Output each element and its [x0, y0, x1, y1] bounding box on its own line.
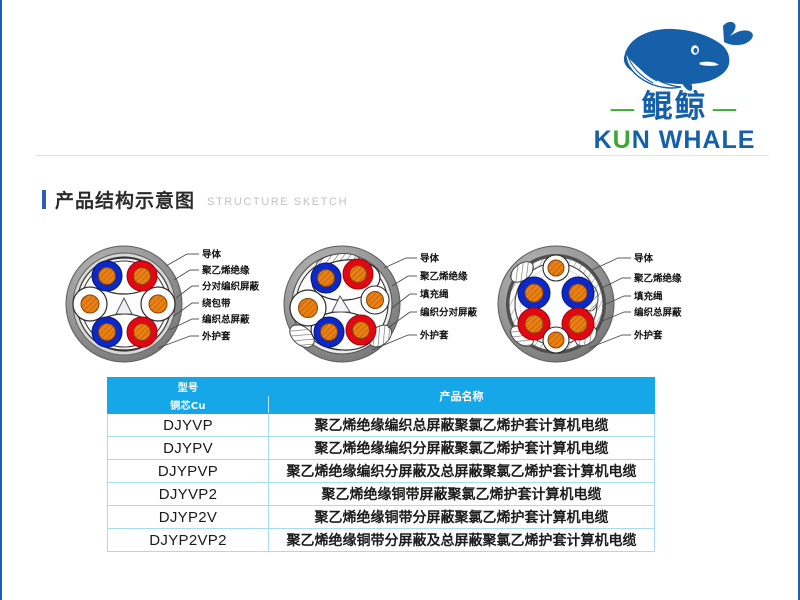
table-header: 型号 产品名称 铜芯Cu [108, 378, 655, 414]
diagram-2-label-0: 导体 [420, 253, 440, 265]
header-model-line2: 铜芯Cu [108, 396, 269, 414]
diagram-1-label-3: 绕包带 [202, 298, 231, 310]
title-accent-bar [42, 190, 46, 209]
cable-diagram-2: 导体 聚乙烯绝缘 填充绳 编织分对屏蔽 外护套 [280, 236, 495, 376]
cell-product-name: 聚乙烯绝缘铜带屏蔽聚氯乙烯护套计算机电缆 [269, 483, 655, 506]
brand-logo: —鲲鲸— KUN WHALE [577, 20, 772, 140]
brand-en-k: K [594, 126, 613, 154]
cell-model: DJYP2V [108, 506, 269, 529]
header-divider [35, 155, 769, 156]
dash-right-icon: — [708, 94, 744, 124]
table-row: DJYVP 聚乙烯绝缘编织总屏蔽聚氯乙烯护套计算机电缆 [108, 414, 655, 437]
cell-model: DJYVP [108, 414, 269, 437]
diagram-1-label-2: 分对编织屏蔽 [202, 281, 260, 293]
diagram-3-label-2: 填充绳 [634, 291, 663, 303]
cell-product-name: 聚乙烯绝缘编织分屏蔽聚氯乙烯护套计算机电缆 [269, 437, 655, 460]
cell-product-name: 聚乙烯绝缘编织总屏蔽聚氯乙烯护套计算机电缆 [269, 414, 655, 437]
cell-model: DJYP2VP2 [108, 529, 269, 552]
table-row: DJYP2VP2 聚乙烯绝缘铜带分屏蔽及总屏蔽聚氯乙烯护套计算机电缆 [108, 529, 655, 552]
table-row: DJYP2V 聚乙烯绝缘铜带分屏蔽聚氯乙烯护套计算机电缆 [108, 506, 655, 529]
dash-left-icon: — [606, 94, 642, 124]
diagram-3-label-1: 聚乙烯绝缘 [633, 273, 682, 285]
diagram-1-label-4: 编织总屏蔽 [202, 314, 250, 326]
diagram-2-label-3: 编织分对屏蔽 [420, 307, 478, 319]
whale-icon [595, 20, 760, 92]
table-row: DJYPV 聚乙烯绝缘编织分屏蔽聚氯乙烯护套计算机电缆 [108, 437, 655, 460]
table-header-row-1: 型号 产品名称 [108, 378, 655, 396]
section-title-cn: 产品结构示意图 [55, 186, 195, 213]
product-page: —鲲鲸— KUN WHALE 产品结构示意图 STRUCTURE SKETCH [0, 0, 800, 600]
cable-diagram-1: 导体 聚乙烯绝缘 分对编织屏蔽 绕包带 编织总屏蔽 外护套 [62, 236, 277, 376]
brand-cn-text: 鲲鲸 [642, 89, 708, 125]
diagram-3-label-4: 外护套 [633, 330, 663, 342]
diagram-1-label-1: 聚乙烯绝缘 [201, 265, 250, 277]
table-body: DJYVP 聚乙烯绝缘编织总屏蔽聚氯乙烯护套计算机电缆 DJYPV 聚乙烯绝缘编… [108, 414, 655, 552]
brand-name-cn: —鲲鲸— [577, 90, 772, 126]
cell-model: DJYPVP [108, 460, 269, 483]
header-product-name: 产品名称 [269, 378, 655, 414]
table-row: DJYVP2 聚乙烯绝缘铜带屏蔽聚氯乙烯护套计算机电缆 [108, 483, 655, 506]
diagram-2-label-1: 聚乙烯绝缘 [419, 271, 468, 283]
cell-model: DJYVP2 [108, 483, 269, 506]
structure-sketch-group: 导体 聚乙烯绝缘 分对编织屏蔽 绕包带 编织总屏蔽 外护套 [2, 236, 800, 376]
cell-product-name: 聚乙烯绝缘铜带分屏蔽聚氯乙烯护套计算机电缆 [269, 506, 655, 529]
header-model-line1: 型号 [108, 378, 269, 396]
cell-product-name: 聚乙烯绝缘编织分屏蔽及总屏蔽聚氯乙烯护套计算机电缆 [269, 460, 655, 483]
brand-name-en: KUN WHALE [577, 126, 772, 155]
diagram-2-label-4: 外护套 [419, 330, 449, 342]
product-table: 型号 产品名称 铜芯Cu DJYVP 聚乙烯绝缘编织总屏蔽聚氯乙烯护套计算机电缆… [107, 377, 655, 552]
diagram-2-label-2: 填充绳 [420, 289, 449, 301]
section-title: 产品结构示意图 STRUCTURE SKETCH [42, 186, 348, 212]
diagram-3-label-3: 编织总屏蔽 [634, 307, 682, 319]
table-row: DJYPVP 聚乙烯绝缘编织分屏蔽及总屏蔽聚氯乙烯护套计算机电缆 [108, 460, 655, 483]
brand-en-u: U [613, 126, 632, 154]
cell-model: DJYPV [108, 437, 269, 460]
cell-product-name: 聚乙烯绝缘铜带分屏蔽及总屏蔽聚氯乙烯护套计算机电缆 [269, 529, 655, 552]
page-header: —鲲鲸— KUN WHALE [2, 0, 800, 155]
section-title-en: STRUCTURE SKETCH [207, 196, 348, 208]
diagram-1-label-5: 外护套 [201, 331, 231, 343]
brand-en-rest: N WHALE [632, 126, 756, 154]
diagram-3-label-0: 导体 [634, 253, 654, 265]
diagram-1-label-0: 导体 [202, 249, 222, 261]
cable-diagram-3: 导体 聚乙烯绝缘 填充绳 编织总屏蔽 外护套 [494, 236, 709, 376]
